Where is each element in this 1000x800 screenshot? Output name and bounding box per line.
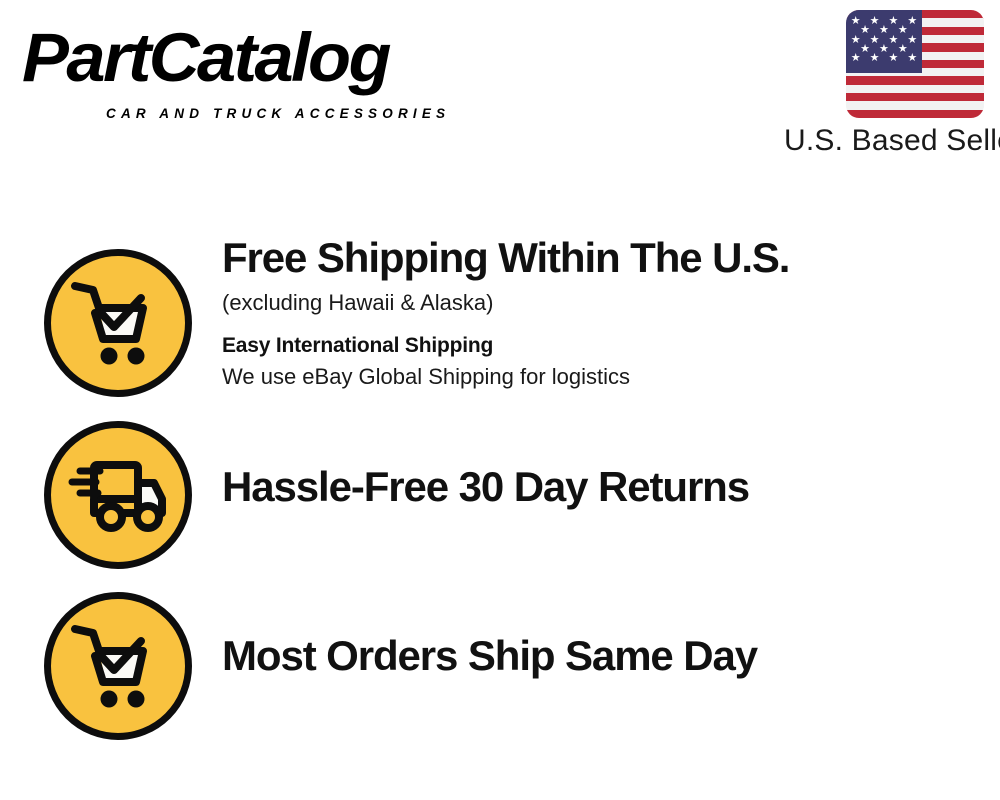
brand-logo[interactable]: PartCatalog CAR AND TRUCK ACCESSORIES [22,20,492,115]
seller-badge-label: U.S. Based Seller [784,124,984,158]
feature-text-block: Most Orders Ship Same Day [222,632,962,680]
feature-row: Free Shipping Within The U.S. (excluding… [0,178,1000,350]
brand-tagline: CAR AND TRUCK ACCESSORIES [106,106,450,121]
page-header: PartCatalog CAR AND TRUCK ACCESSORIES ★★… [0,0,1000,175]
seller-badge: ★★★★ ★★★ ★★★★ ★★★ ★★★★ U.S. Based Seller [784,10,984,158]
feature-title: Most Orders Ship Same Day [222,632,962,680]
feature-title: Hassle-Free 30 Day Returns [222,463,962,511]
feature-row: Most Orders Ship Same Day [0,522,1000,694]
shopping-cart-check-icon [44,592,192,740]
flag-canton: ★★★★ ★★★ ★★★★ ★★★ ★★★★ [846,10,922,73]
feature-subtitle: (excluding Hawaii & Alaska) [222,288,962,318]
feature-list: Free Shipping Within The U.S. (excluding… [0,178,1000,694]
us-flag-icon: ★★★★ ★★★ ★★★★ ★★★ ★★★★ [846,10,984,118]
brand-wordmark: PartCatalog [22,20,389,96]
feature-text-block: Hassle-Free 30 Day Returns [222,463,962,511]
feature-icon-wrapper [44,592,192,740]
feature-row: Hassle-Free 30 Day Returns [0,350,1000,522]
feature-title: Free Shipping Within The U.S. [222,234,962,282]
